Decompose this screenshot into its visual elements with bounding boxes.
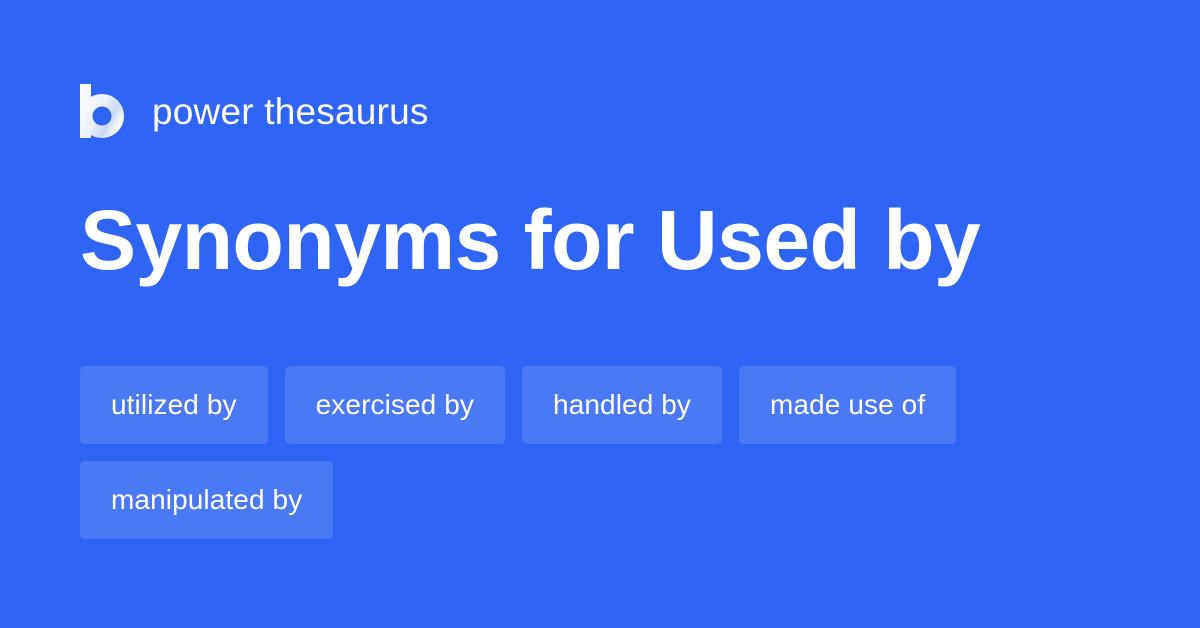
brand-name: power thesaurus	[152, 93, 429, 130]
synonym-tag[interactable]: exercised by	[285, 366, 505, 444]
synonym-tag-list: utilized by exercised by handled by made…	[80, 366, 1120, 539]
power-thesaurus-b-logo-icon	[80, 84, 126, 138]
share-card: power thesaurus Synonyms for Used by uti…	[0, 0, 1200, 628]
synonym-tag[interactable]: manipulated by	[80, 461, 333, 539]
brand-lockup[interactable]: power thesaurus	[80, 82, 429, 140]
page-title: Synonyms for Used by	[80, 196, 980, 285]
synonym-tag[interactable]: handled by	[522, 366, 722, 444]
synonym-tag[interactable]: made use of	[739, 366, 956, 444]
synonym-tag[interactable]: utilized by	[80, 366, 268, 444]
